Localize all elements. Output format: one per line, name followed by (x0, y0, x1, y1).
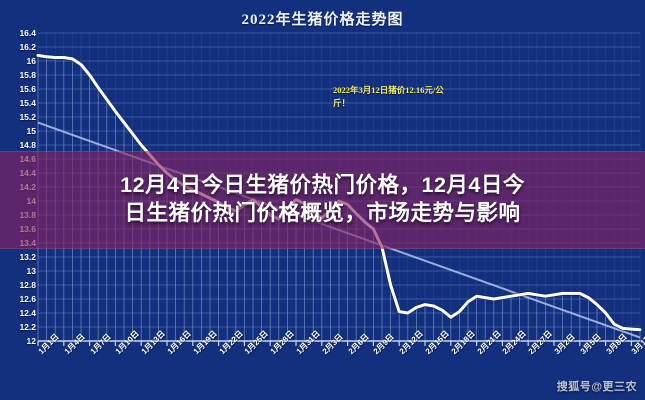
overlay-banner-background (0, 151, 645, 249)
chart-title: 2022年生猪价格走势图 (0, 8, 645, 29)
y-axis-tick-label: 12 (2, 336, 36, 346)
y-axis-tick-label: 15 (2, 126, 36, 136)
y-axis-tick-label: 16 (2, 56, 36, 66)
y-axis-tick-label: 15.2 (2, 112, 36, 122)
y-axis-tick-label: 16.2 (2, 42, 36, 52)
y-axis-tick-label: 12.4 (2, 308, 36, 318)
y-axis-tick-label: 12.2 (2, 322, 36, 332)
price-annotation: 2022年3月12日猪价12.16元/公斤！ (333, 84, 451, 110)
y-axis-tick-label: 13 (2, 266, 36, 276)
chart-screenshot: 16.416.21615.815.615.415.21514.814.614.4… (0, 0, 645, 400)
y-axis-tick-label: 12.6 (2, 294, 36, 304)
y-axis-tick-label: 13.2 (2, 252, 36, 262)
watermark: 搜狐号@更三农 (557, 378, 637, 394)
y-axis-tick-label: 15.8 (2, 70, 36, 80)
y-axis-tick-label: 14.8 (2, 140, 36, 150)
y-axis-tick-label: 15.4 (2, 98, 36, 108)
y-axis-tick-label: 16.4 (2, 28, 36, 38)
y-axis-tick-label: 12.8 (2, 280, 36, 290)
y-axis-tick-label: 15.6 (2, 84, 36, 94)
